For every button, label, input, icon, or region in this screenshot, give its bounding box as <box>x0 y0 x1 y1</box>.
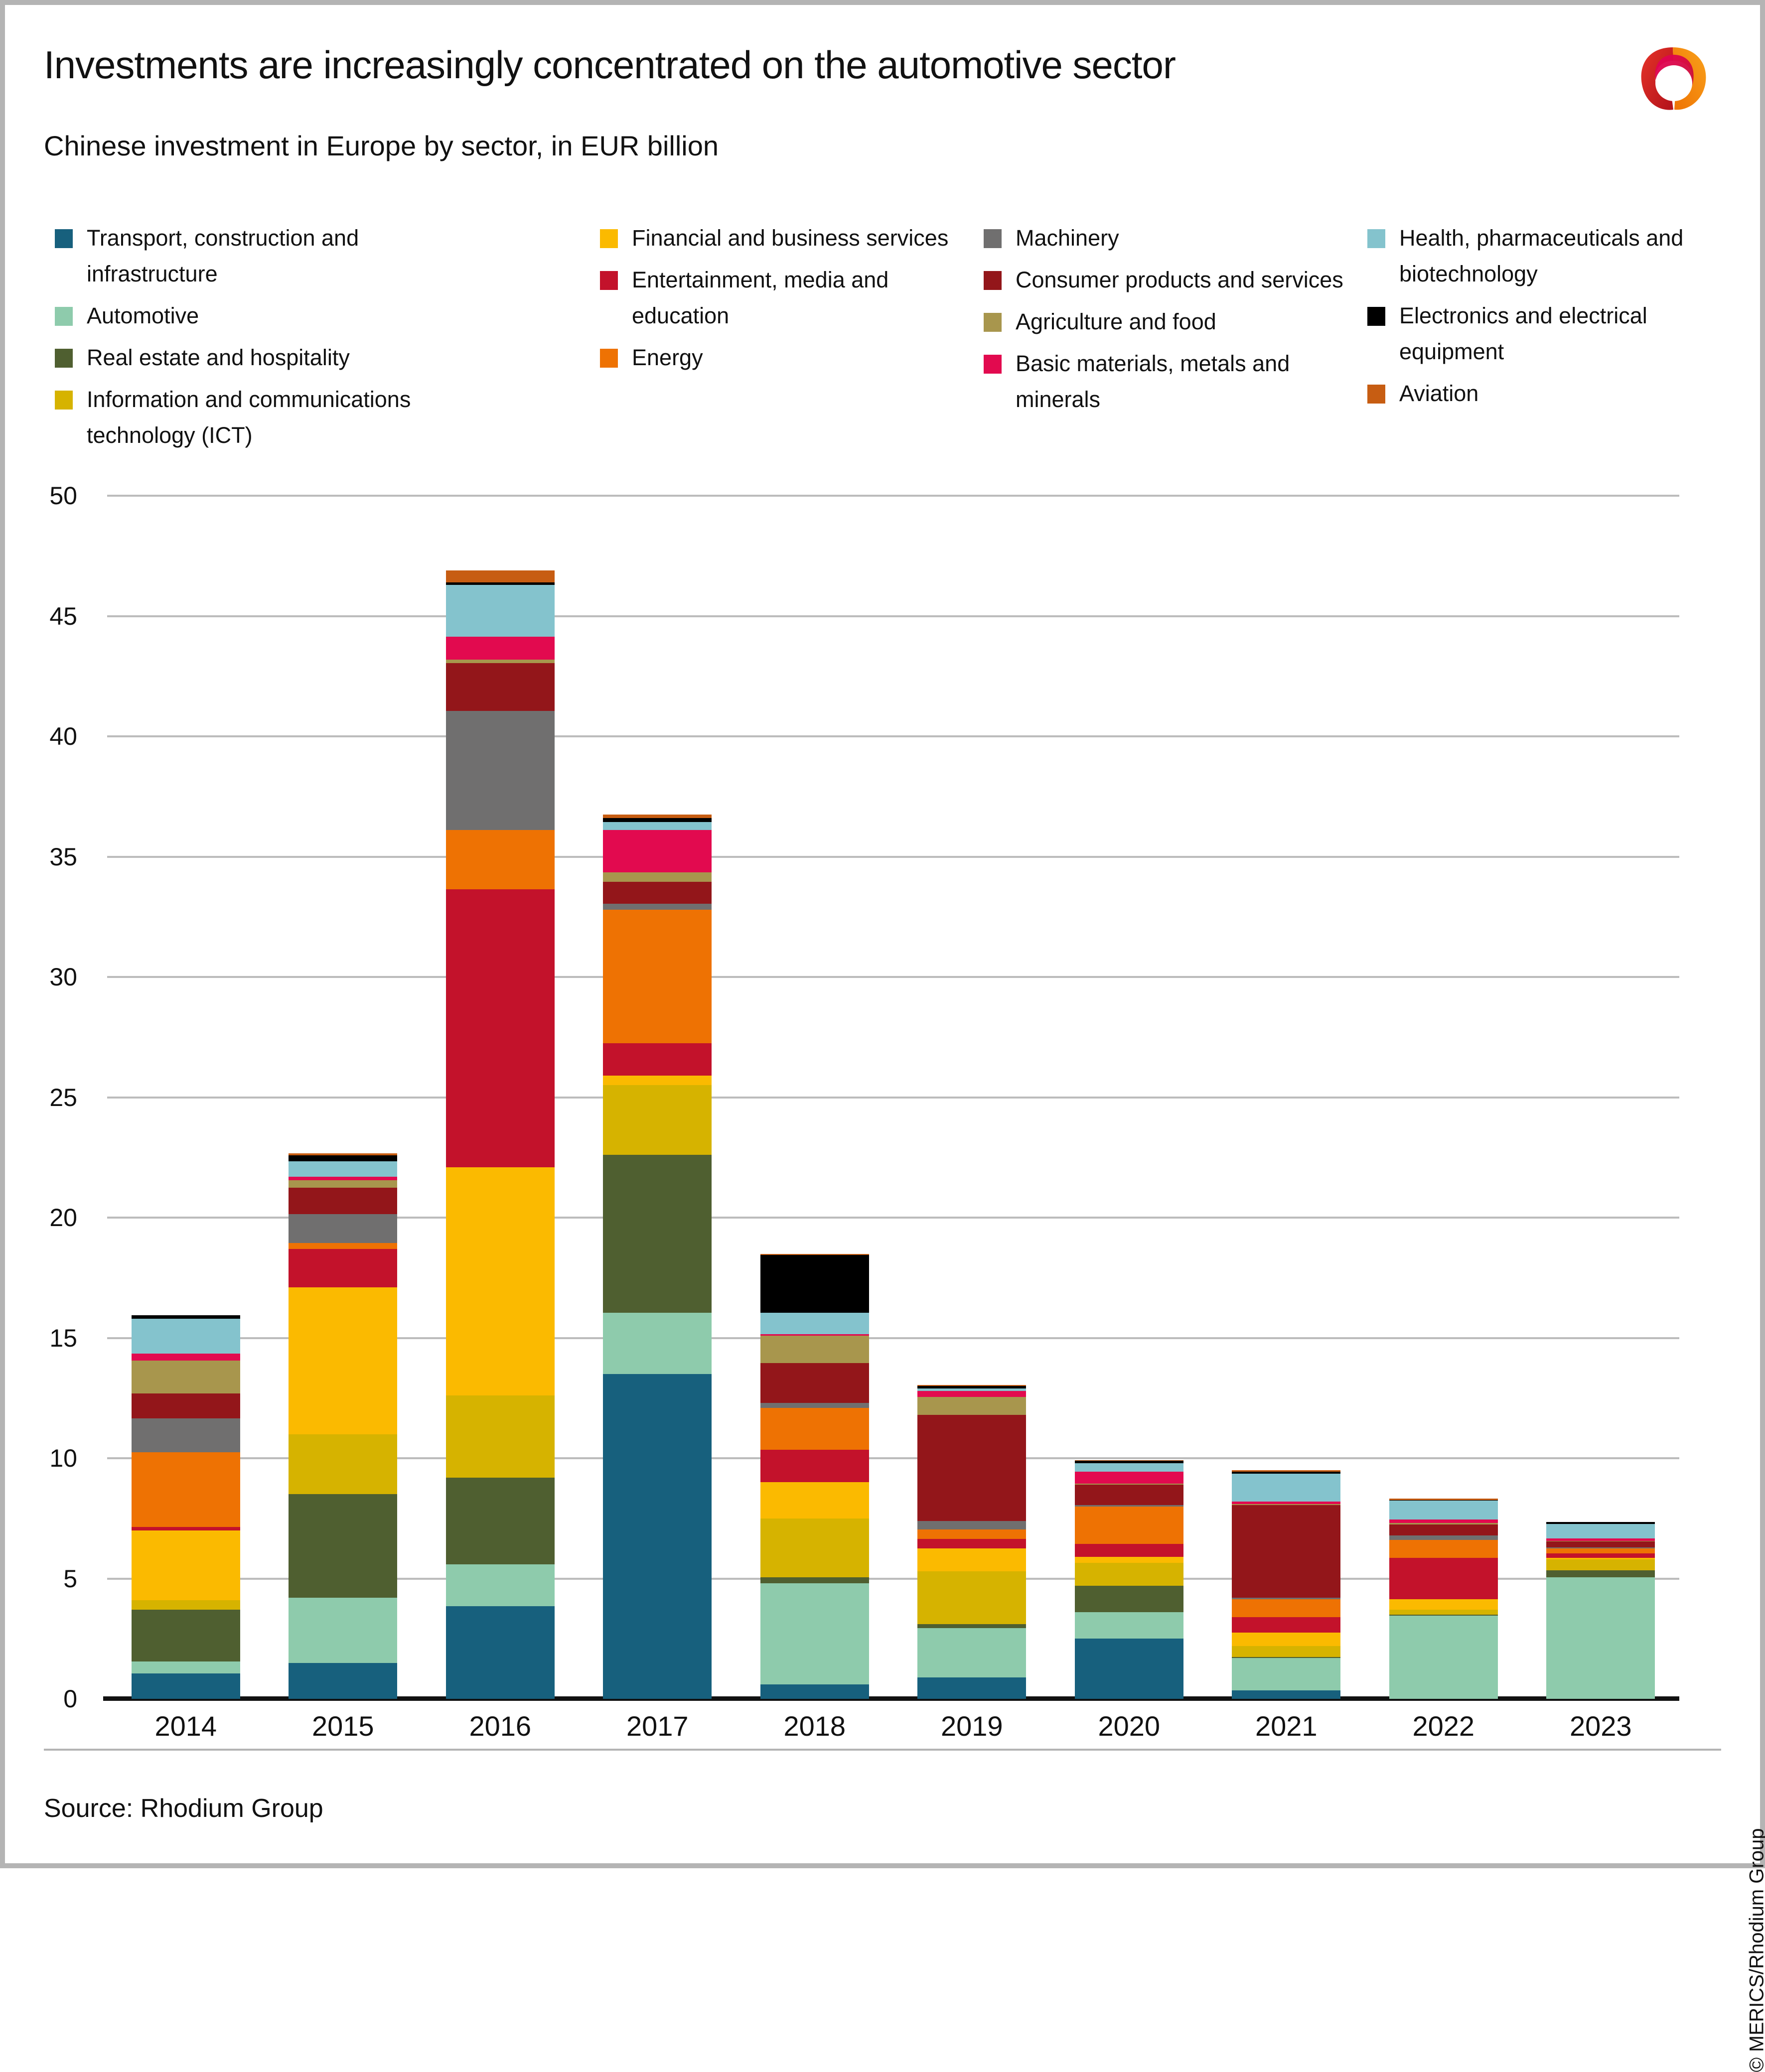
bar-segment <box>446 660 555 663</box>
legend-item-financial[interactable]: Financial and business services <box>597 220 966 256</box>
legend-label-entertainment: Entertainment, media and education <box>632 267 888 328</box>
gridline-45 <box>107 615 1679 617</box>
bar-segment <box>446 637 555 660</box>
bar-segment <box>917 1539 1026 1548</box>
bar-segment <box>132 1361 240 1393</box>
bar-segment <box>132 1661 240 1673</box>
bar-segment <box>289 1434 397 1495</box>
bar-segment <box>1546 1570 1655 1577</box>
bar-segment <box>289 1249 397 1287</box>
bar-segment <box>289 1180 397 1187</box>
bar-segment <box>446 1606 555 1699</box>
bar-segment <box>446 1395 555 1477</box>
bar-segment <box>1546 1541 1655 1547</box>
bar-segment <box>1075 1557 1183 1563</box>
legend-item-consumer[interactable]: Consumer products and services <box>981 262 1349 298</box>
bar-segment <box>289 1188 397 1214</box>
bar-segment <box>760 1482 869 1518</box>
bar-segment <box>132 1527 240 1530</box>
bar-segment <box>917 1571 1026 1624</box>
y-axis-tick-0: 0 <box>0 1686 77 1711</box>
legend-swatch-basic-materials <box>984 355 1002 374</box>
bar-segment <box>760 1684 869 1699</box>
bar-segment <box>289 1287 397 1434</box>
legend-item-real-estate[interactable]: Real estate and hospitality <box>52 340 441 376</box>
legend-label-consumer: Consumer products and services <box>1016 267 1343 292</box>
bar-2020[interactable] <box>1075 1460 1183 1699</box>
x-axis-tick-2018: 2018 <box>740 1711 889 1741</box>
bar-segment <box>132 1600 240 1610</box>
bar-segment <box>760 1450 869 1482</box>
merics-logo <box>1625 35 1720 120</box>
legend-label-health: Health, pharmaceuticals and biotechnolog… <box>1399 225 1683 286</box>
bar-segment <box>289 1598 397 1662</box>
source-note: Source: Rhodium Group <box>44 1794 323 1823</box>
legend-swatch-aviation <box>1367 385 1385 404</box>
legend-item-basic-materials[interactable]: Basic materials, metals and minerals <box>981 346 1349 417</box>
chart-plot-area: 0510152025303540455020142015201620172018… <box>107 496 1679 1699</box>
bar-2016[interactable] <box>446 570 555 1699</box>
bar-segment <box>1389 1599 1498 1610</box>
y-axis-tick-45: 45 <box>0 604 77 629</box>
y-axis-tick-30: 30 <box>0 965 77 989</box>
bar-2018[interactable] <box>760 1254 869 1699</box>
x-axis-tick-2014: 2014 <box>111 1711 261 1741</box>
bar-segment <box>603 815 712 818</box>
bar-2023[interactable] <box>1546 1522 1655 1699</box>
legend-item-aviation[interactable]: Aviation <box>1364 376 1733 412</box>
gridline-35 <box>107 856 1679 858</box>
legend-label-automotive: Automotive <box>87 303 199 328</box>
legend-swatch-health <box>1367 229 1385 248</box>
legend-item-electronics[interactable]: Electronics and electrical equipment <box>1364 298 1733 370</box>
x-axis-tick-2016: 2016 <box>426 1711 575 1741</box>
bar-segment <box>1546 1577 1655 1699</box>
x-axis-tick-2017: 2017 <box>583 1711 732 1741</box>
bar-segment <box>603 830 712 872</box>
bar-segment <box>603 818 712 822</box>
bar-segment <box>132 1673 240 1699</box>
bar-segment <box>289 1494 397 1598</box>
bar-segment <box>603 1085 712 1155</box>
bar-segment <box>760 1313 869 1334</box>
legend-label-agriculture: Agriculture and food <box>1016 309 1216 334</box>
bar-segment <box>1232 1599 1340 1617</box>
bar-segment <box>446 711 555 830</box>
bar-2021[interactable] <box>1232 1470 1340 1699</box>
bar-segment <box>760 1408 869 1450</box>
bar-segment <box>446 889 555 1167</box>
bar-segment <box>446 1478 555 1564</box>
bar-segment <box>289 1155 397 1161</box>
bar-segment <box>1232 1505 1340 1598</box>
gridline-25 <box>107 1097 1679 1099</box>
bar-segment <box>603 1374 712 1699</box>
bar-segment <box>603 872 712 882</box>
legend-swatch-agriculture <box>984 313 1002 332</box>
y-axis-tick-35: 35 <box>0 844 77 869</box>
page-subtitle: Chinese investment in Europe by sector, … <box>44 131 719 161</box>
bar-segment <box>1546 1548 1655 1553</box>
legend-swatch-financial <box>600 229 618 248</box>
legend-item-agriculture[interactable]: Agriculture and food <box>981 304 1349 340</box>
bar-segment <box>917 1521 1026 1529</box>
legend-swatch-transport <box>55 229 73 248</box>
y-axis-tick-10: 10 <box>0 1446 77 1471</box>
legend-swatch-automotive <box>55 307 73 326</box>
y-axis-tick-40: 40 <box>0 724 77 749</box>
y-axis-tick-15: 15 <box>0 1326 77 1351</box>
gridline-30 <box>107 976 1679 978</box>
bar-segment <box>1232 1658 1340 1690</box>
legend-column-1: Financial and business services Entertai… <box>597 220 966 382</box>
bar-segment <box>1232 1690 1340 1699</box>
bar-segment <box>1075 1507 1183 1544</box>
gridline-40 <box>107 735 1679 737</box>
legend-item-automotive[interactable]: Automotive <box>52 298 441 334</box>
legend: Transport, construction and infrastructu… <box>44 220 1728 454</box>
bar-segment <box>1389 1616 1498 1699</box>
bar-segment <box>1389 1610 1498 1615</box>
bar-segment <box>1546 1553 1655 1558</box>
bar-2014[interactable] <box>132 1315 240 1699</box>
bar-segment <box>132 1418 240 1452</box>
bar-2019[interactable] <box>917 1385 1026 1699</box>
bar-segment <box>917 1391 1026 1397</box>
bar-segment <box>1232 1646 1340 1657</box>
legend-swatch-consumer <box>984 271 1002 290</box>
bar-segment <box>132 1319 240 1354</box>
legend-column-2: Machinery Consumer products and services… <box>981 220 1349 423</box>
legend-label-electronics: Electronics and electrical equipment <box>1399 303 1647 364</box>
bar-segment <box>1389 1524 1498 1535</box>
bar-segment <box>1389 1519 1498 1523</box>
bar-segment <box>603 1155 712 1312</box>
bar-segment <box>446 1167 555 1396</box>
bar-segment <box>760 1255 869 1313</box>
y-axis-tick-25: 25 <box>0 1085 77 1110</box>
bar-segment <box>603 904 712 910</box>
bar-segment <box>1075 1612 1183 1639</box>
chart-page: Investments are increasingly concentrate… <box>0 0 1765 1868</box>
bar-segment <box>917 1529 1026 1539</box>
bar-segment <box>917 1415 1026 1521</box>
legend-label-transport: Transport, construction and infrastructu… <box>87 225 359 286</box>
x-axis-tick-2022: 2022 <box>1369 1711 1518 1741</box>
bar-segment <box>1075 1472 1183 1484</box>
footer-divider <box>44 1749 1721 1751</box>
x-axis-tick-2020: 2020 <box>1054 1711 1204 1741</box>
x-axis-tick-2023: 2023 <box>1526 1711 1675 1741</box>
bar-segment <box>760 1403 869 1408</box>
legend-swatch-electronics <box>1367 307 1385 326</box>
legend-item-energy[interactable]: Energy <box>597 340 966 376</box>
legend-item-transport[interactable]: Transport, construction and infrastructu… <box>52 220 441 292</box>
bar-segment <box>1389 1558 1498 1599</box>
bar-segment <box>760 1577 869 1583</box>
bar-segment <box>1389 1540 1498 1558</box>
bar-segment <box>446 663 555 711</box>
bar-segment <box>917 1548 1026 1571</box>
bar-segment <box>1546 1524 1655 1538</box>
bar-segment <box>760 1336 869 1364</box>
legend-swatch-real-estate <box>55 349 73 368</box>
legend-label-financial: Financial and business services <box>632 225 948 251</box>
bar-segment <box>1546 1559 1655 1570</box>
bar-segment <box>917 1397 1026 1415</box>
legend-swatch-energy <box>600 349 618 368</box>
bar-segment <box>1232 1474 1340 1502</box>
bar-segment <box>603 910 712 1043</box>
bar-segment <box>132 1530 240 1600</box>
bar-segment <box>132 1315 240 1319</box>
bar-2017[interactable] <box>603 815 712 1699</box>
legend-column-0: Transport, construction and infrastructu… <box>52 220 441 459</box>
bar-segment <box>1389 1535 1498 1540</box>
gridline-50 <box>107 495 1679 497</box>
legend-item-machinery[interactable]: Machinery <box>981 220 1349 256</box>
legend-item-ict[interactable]: Information and communications technolog… <box>52 382 441 453</box>
legend-item-health[interactable]: Health, pharmaceuticals and biotechnolog… <box>1364 220 1733 292</box>
bar-segment <box>132 1610 240 1661</box>
bar-segment <box>1075 1463 1183 1472</box>
bar-segment <box>603 1076 712 1085</box>
y-axis-tick-5: 5 <box>0 1566 77 1591</box>
bar-segment <box>289 1177 397 1180</box>
bar-2022[interactable] <box>1389 1499 1498 1699</box>
bar-segment <box>446 585 555 637</box>
bar-segment <box>1075 1639 1183 1699</box>
bar-segment <box>917 1677 1026 1699</box>
y-axis-tick-20: 20 <box>0 1205 77 1230</box>
copyright-note: © MERICS/Rhodium Group <box>1746 1828 1765 2072</box>
legend-swatch-ict <box>55 391 73 410</box>
bar-segment <box>1075 1485 1183 1505</box>
x-axis-tick-2019: 2019 <box>897 1711 1046 1741</box>
bar-segment <box>289 1663 397 1699</box>
page-title: Investments are increasingly concentrate… <box>44 44 1176 86</box>
bar-segment <box>1389 1501 1498 1520</box>
bar-segment <box>132 1354 240 1361</box>
x-axis-tick-2015: 2015 <box>268 1711 418 1741</box>
bar-segment <box>603 822 712 830</box>
bar-segment <box>446 830 555 889</box>
legend-label-aviation: Aviation <box>1399 381 1478 406</box>
legend-label-basic-materials: Basic materials, metals and minerals <box>1016 351 1290 412</box>
bar-segment <box>1075 1563 1183 1586</box>
legend-label-machinery: Machinery <box>1016 225 1119 251</box>
bar-segment <box>1075 1586 1183 1612</box>
bar-segment <box>1232 1617 1340 1633</box>
bar-2015[interactable] <box>289 1153 397 1699</box>
bar-segment <box>1075 1544 1183 1557</box>
bar-segment <box>1232 1633 1340 1646</box>
bar-segment <box>917 1624 1026 1628</box>
legend-item-entertainment[interactable]: Entertainment, media and education <box>597 262 966 334</box>
y-axis-tick-50: 50 <box>0 483 77 508</box>
bar-segment <box>760 1519 869 1577</box>
bar-segment <box>603 1043 712 1076</box>
legend-label-real-estate: Real estate and hospitality <box>87 345 350 370</box>
bar-segment <box>132 1452 240 1527</box>
bar-segment <box>132 1393 240 1419</box>
bar-segment <box>289 1161 397 1177</box>
legend-label-energy: Energy <box>632 345 703 370</box>
legend-swatch-machinery <box>984 229 1002 248</box>
bar-segment <box>289 1214 397 1243</box>
x-axis-tick-2021: 2021 <box>1211 1711 1361 1741</box>
legend-label-ict: Information and communications technolog… <box>87 387 411 448</box>
bar-segment <box>446 570 555 582</box>
bar-segment <box>603 1313 712 1374</box>
bar-segment <box>603 882 712 903</box>
bar-segment <box>289 1243 397 1249</box>
legend-column-3: Health, pharmaceuticals and biotechnolog… <box>1364 220 1733 417</box>
bar-segment <box>917 1628 1026 1677</box>
bar-segment <box>446 1564 555 1607</box>
bar-segment <box>760 1583 869 1684</box>
bar-segment <box>760 1363 869 1403</box>
legend-swatch-entertainment <box>600 271 618 290</box>
